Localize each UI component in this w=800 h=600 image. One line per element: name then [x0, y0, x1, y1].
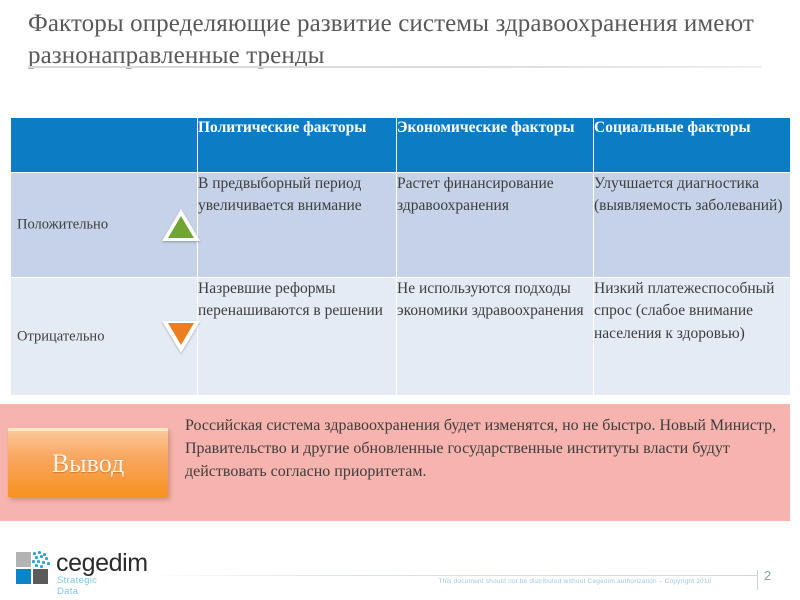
cell-negative-social: Низкий платежеспособный спрос (слабое вн… — [594, 278, 791, 396]
cell-positive-political: В предвыборный период увеличивается вним… — [198, 173, 397, 278]
triangle-down-icon — [161, 319, 201, 355]
table-row-positive: Положительно В предвыборный период увели… — [11, 173, 791, 278]
table-row-negative: Отрицательно Назревшие реформы перенашив… — [11, 278, 791, 396]
triangle-up-icon — [161, 207, 201, 243]
table-header-row: Политические факторы Экономические факто… — [11, 118, 791, 173]
column-header-political: Политические факторы — [198, 118, 397, 173]
cell-negative-political: Назревшие реформы перенашиваются в решен… — [198, 278, 397, 396]
table-corner-cell — [11, 118, 198, 173]
factors-table: Политические факторы Экономические факто… — [10, 117, 791, 396]
page-title: Факторы определяющие развитие системы зд… — [28, 8, 768, 72]
logo-dots-icon — [32, 551, 51, 568]
title-divider — [28, 66, 762, 68]
cegedim-logo-mark-icon — [16, 552, 50, 584]
column-header-social: Социальные факторы — [594, 118, 791, 173]
conclusion-badge-label: Вывод — [52, 449, 124, 479]
row-label-cell-negative: Отрицательно — [11, 278, 198, 396]
cell-positive-social: Улучшается диагностика (выявляемость заб… — [594, 173, 791, 278]
conclusion-badge: Вывод — [8, 428, 168, 497]
row-label-positive: Положительно — [17, 217, 108, 234]
cegedim-tagline: Strategic Data — [57, 575, 97, 597]
page-number: 2 — [764, 568, 771, 583]
row-label-negative: Отрицательно — [17, 328, 104, 345]
row-label-cell-positive: Положительно — [11, 173, 198, 278]
footer-copyright-note: This document should not be distributed … — [400, 578, 750, 585]
page-title-text: Факторы определяющие развитие системы зд… — [28, 8, 768, 72]
column-header-economic: Экономические факторы — [397, 118, 594, 173]
cegedim-wordmark: cegedim — [56, 549, 148, 578]
page-number-separator — [757, 570, 758, 590]
cell-positive-economic: Растет финансирование здравоохранения — [397, 173, 594, 278]
conclusion-text: Российская система здравоохранения будет… — [185, 415, 780, 484]
footer-divider — [145, 575, 757, 576]
cell-negative-economic: Не используются подходы экономики здраво… — [397, 278, 594, 396]
